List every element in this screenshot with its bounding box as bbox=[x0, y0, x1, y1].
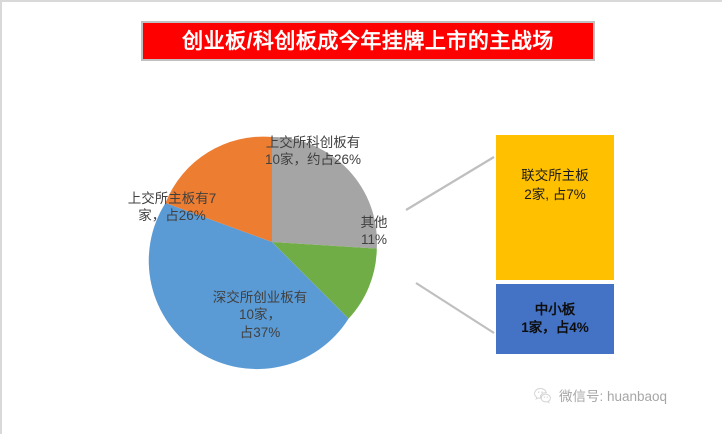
watermark-text: 微信号: huanbaoq bbox=[559, 385, 667, 405]
callout-text-sme-board: 中小板 1家，占4% bbox=[521, 301, 589, 337]
wechat-icon bbox=[533, 386, 552, 405]
callout-text-hkex-main-board: 联交所主板 2家, 占7% bbox=[521, 167, 589, 203]
chart-title-text: 创业板/科创板成今年挂牌上市的主战场 bbox=[182, 31, 554, 52]
chart-title-banner: 创业板/科创板成今年挂牌上市的主战场 bbox=[141, 21, 595, 61]
callout-box-hkex-main-board[interactable]: 联交所主板 2家, 占7% bbox=[496, 135, 614, 280]
callout-box-sme-board[interactable]: 中小板 1家，占4% bbox=[496, 284, 614, 354]
chart-canvas: 创业板/科创板成今年挂牌上市的主战场 上交所科创板有 10家，约占26% 其他 … bbox=[0, 0, 722, 434]
pie-chart: 上交所科创板有 10家，约占26% 其他 11% 深交所创业板有 10家， 占3… bbox=[102, 82, 442, 392]
pie-svg bbox=[102, 82, 442, 392]
watermark: 微信号: huanbaoq bbox=[533, 385, 667, 405]
pie-slice-sse-star-market[interactable] bbox=[272, 137, 377, 249]
